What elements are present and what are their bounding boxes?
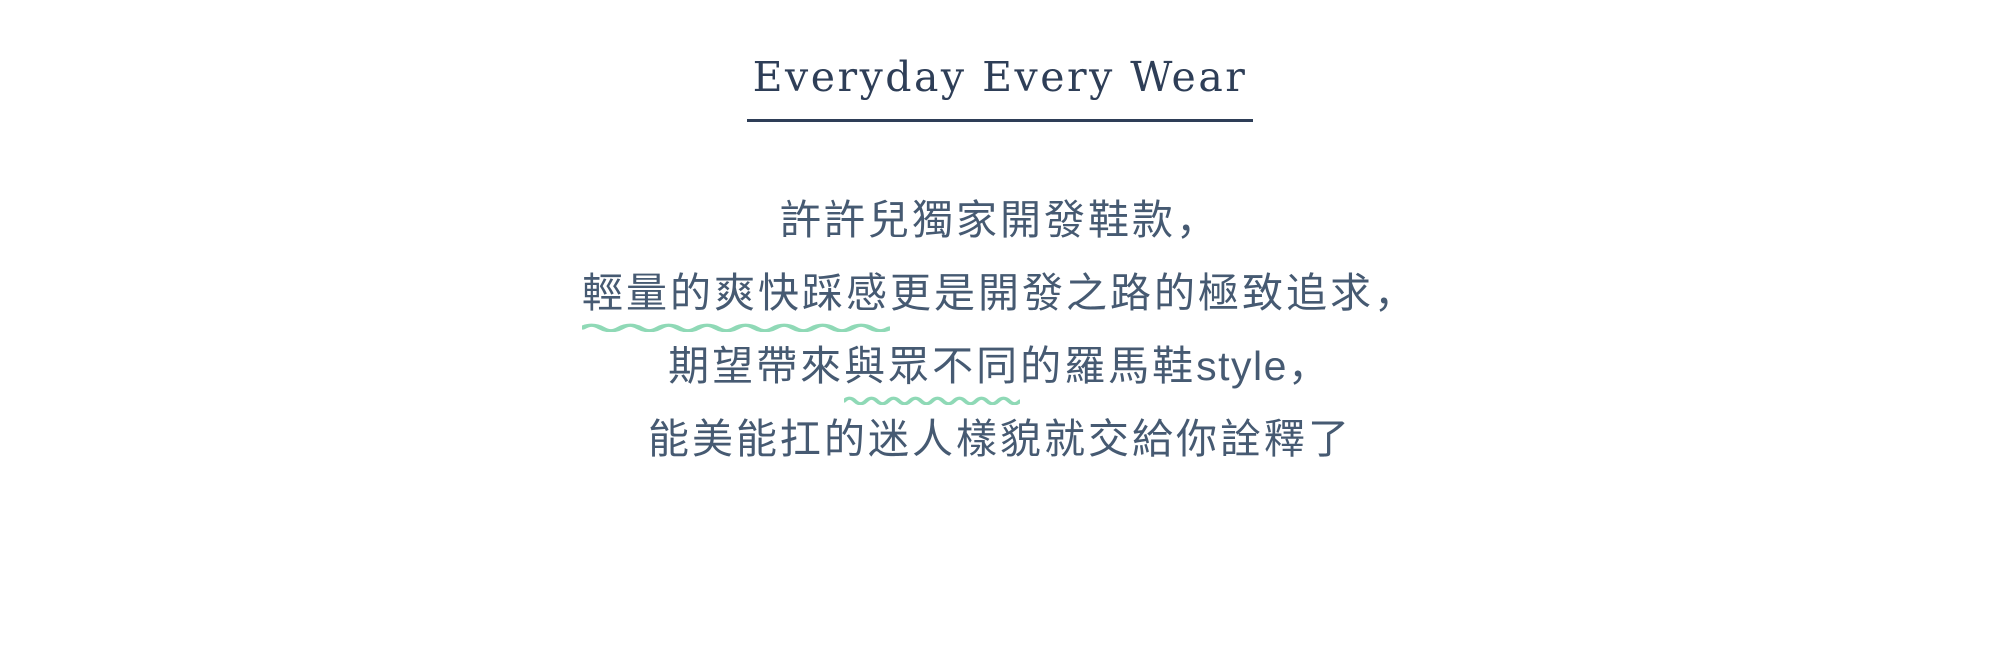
copy-line-3-prefix: 期望帶來 bbox=[668, 330, 844, 403]
promo-text-block: Everyday Every Wear 許許兒獨家開發鞋款， 輕量的爽快踩感 更… bbox=[0, 0, 2000, 669]
copy-line-1: 許許兒獨家開發鞋款， bbox=[582, 184, 1418, 257]
promo-copy: 許許兒獨家開發鞋款， 輕量的爽快踩感 更是開發之路的極致追求， 期望帶來 與眾不… bbox=[582, 184, 1418, 476]
copy-line-2-highlight-text: 輕量的爽快踩感 bbox=[582, 270, 890, 316]
copy-line-3-highlight: 與眾不同 bbox=[844, 330, 1020, 403]
copy-line-3-tail: ， bbox=[1288, 330, 1332, 403]
copy-line-1-text: 許許兒獨家開發鞋款， bbox=[780, 184, 1220, 257]
copy-line-2: 輕量的爽快踩感 更是開發之路的極致追求， bbox=[582, 257, 1418, 330]
page-title: Everyday Every Wear bbox=[747, 52, 1254, 122]
copy-line-3-highlight-text: 與眾不同 bbox=[844, 343, 1020, 389]
copy-line-2-highlight: 輕量的爽快踩感 bbox=[582, 257, 890, 330]
copy-line-4: 能美能扛的迷人樣貌就交給你詮釋了 bbox=[582, 403, 1418, 476]
copy-line-3-suffix: 的羅馬鞋 bbox=[1020, 330, 1196, 403]
copy-line-3-latin: style bbox=[1196, 330, 1288, 403]
copy-line-2-rest: 更是開發之路的極致追求， bbox=[890, 257, 1418, 330]
copy-line-3: 期望帶來 與眾不同 的羅馬鞋style， bbox=[582, 330, 1418, 403]
heading-container: Everyday Every Wear bbox=[0, 52, 2000, 122]
copy-line-4-text: 能美能扛的迷人樣貌就交給你詮釋了 bbox=[648, 403, 1352, 476]
